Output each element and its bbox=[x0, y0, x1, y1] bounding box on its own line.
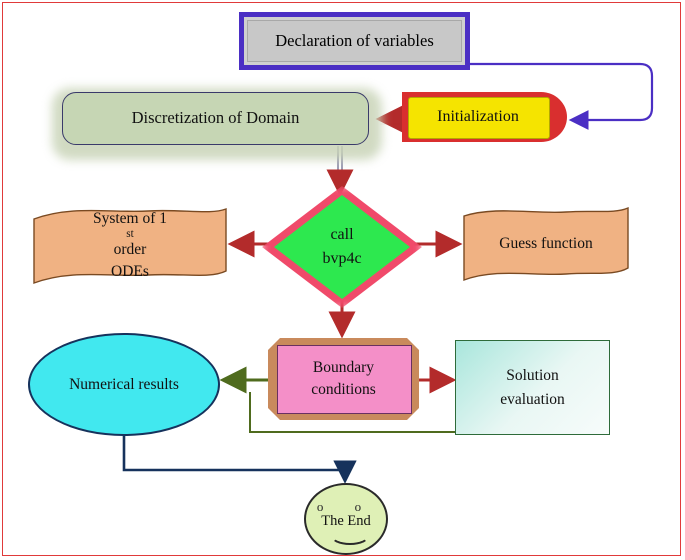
node-boundary-conditions-label-line2: conditions bbox=[311, 381, 376, 399]
smiley-mouth-icon bbox=[330, 525, 370, 545]
node-declaration-inner-panel: Declaration of variables bbox=[247, 20, 462, 62]
node-discretization-of-domain[interactable]: Discretization of Domain bbox=[62, 92, 369, 145]
node-odes-label-part-a: System of 1 bbox=[93, 210, 167, 228]
node-initialization-label: Initialization bbox=[437, 108, 519, 126]
node-guess-function[interactable]: Guess function bbox=[462, 206, 630, 282]
node-odes-label-wrap: System of 1st order ODEs bbox=[87, 210, 173, 280]
node-solution-evaluation-label-line2: evaluation bbox=[500, 391, 565, 409]
node-odes-label-line1: System of 1st order bbox=[93, 210, 167, 258]
node-declaration-label: Declaration of variables bbox=[275, 31, 434, 51]
node-initialization[interactable]: Initialization bbox=[402, 92, 567, 142]
node-boundary-conditions-label-wrap: Boundary conditions bbox=[277, 345, 410, 412]
node-boundary-conditions-label-line1: Boundary bbox=[311, 359, 376, 377]
node-guess-label: Guess function bbox=[499, 235, 592, 253]
node-discretization-label: Discretization of Domain bbox=[132, 109, 300, 128]
flowchart-canvas: Declaration of variables Discretization … bbox=[0, 0, 685, 560]
node-solution-evaluation-label-line1: Solution bbox=[500, 367, 565, 385]
node-odes-label-superscript: st bbox=[93, 228, 167, 241]
node-solution-evaluation[interactable]: Solution evaluation bbox=[455, 340, 610, 435]
node-call-bvp4c-label-wrap: call bvp4c bbox=[274, 195, 410, 299]
node-call-bvp4c-label-line2: bvp4c bbox=[322, 250, 361, 268]
node-numerical-results-label: Numerical results bbox=[69, 376, 179, 394]
node-numerical-results[interactable]: Numerical results bbox=[28, 333, 220, 436]
node-odes-label-line2: ODEs bbox=[93, 263, 167, 281]
node-system-of-first-order-odes[interactable]: System of 1st order ODEs bbox=[32, 207, 228, 284]
node-odes-label-part-b: order bbox=[93, 241, 167, 259]
node-call-bvp4c-label-line1: call bbox=[330, 226, 353, 244]
node-the-end[interactable]: o o The End bbox=[304, 483, 388, 555]
node-initialization-label-wrap: Initialization bbox=[408, 97, 548, 137]
